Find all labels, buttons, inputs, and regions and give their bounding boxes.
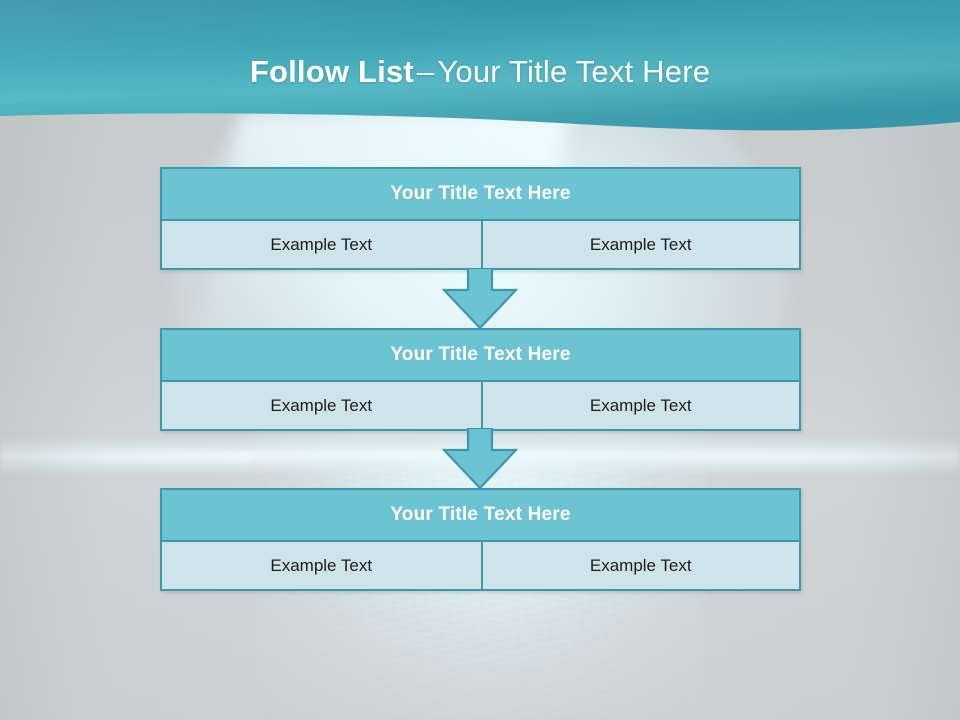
block-1-cell-left[interactable]: Example Text [162,221,481,268]
block-2-cell-right[interactable]: Example Text [481,382,800,429]
block-3-cell-right[interactable]: Example Text [481,542,800,589]
down-arrow-icon-2 [442,428,518,490]
follow-list-diagram: Your Title Text Here Example Text Exampl… [0,0,960,720]
block-3-cells: Example Text Example Text [160,542,801,591]
block-1-title: Your Title Text Here [160,167,801,221]
slide-canvas: Follow List–Your Title Text Here Your Ti… [0,0,960,720]
diagram-block-3[interactable]: Your Title Text Here Example Text Exampl… [160,488,801,591]
block-1-cell-right[interactable]: Example Text [481,221,800,268]
down-arrow-icon-1 [442,268,518,330]
block-2-title: Your Title Text Here [160,328,801,382]
diagram-block-2[interactable]: Your Title Text Here Example Text Exampl… [160,328,801,431]
block-3-cell-left[interactable]: Example Text [162,542,481,589]
block-1-cells: Example Text Example Text [160,221,801,270]
diagram-block-1[interactable]: Your Title Text Here Example Text Exampl… [160,167,801,270]
block-2-cells: Example Text Example Text [160,382,801,431]
block-3-title: Your Title Text Here [160,488,801,542]
block-2-cell-left[interactable]: Example Text [162,382,481,429]
